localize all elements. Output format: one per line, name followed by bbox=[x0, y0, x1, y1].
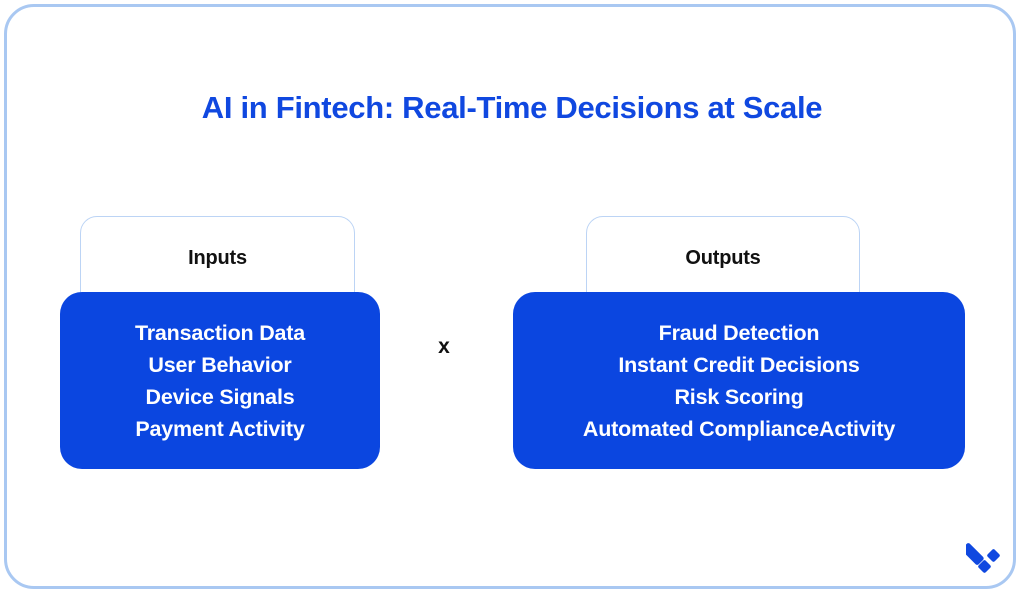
inputs-group: Inputs Transaction Data User Behavior De… bbox=[60, 216, 380, 469]
slide-canvas: AI in Fintech: Real-Time Decisions at Sc… bbox=[0, 0, 1024, 597]
page-title: AI in Fintech: Real-Time Decisions at Sc… bbox=[0, 88, 1024, 128]
multiplier-symbol: x bbox=[404, 333, 484, 361]
brand-logo-icon bbox=[966, 536, 1006, 576]
list-item: User Behavior bbox=[148, 349, 291, 381]
list-item: Fraud Detection bbox=[659, 317, 820, 349]
list-item: Instant Credit Decisions bbox=[618, 349, 859, 381]
outputs-header-label: Outputs bbox=[587, 247, 859, 270]
outputs-group: Outputs Fraud Detection Instant Credit D… bbox=[513, 216, 965, 469]
outputs-body-card: Fraud Detection Instant Credit Decisions… bbox=[513, 292, 965, 469]
inputs-header-label: Inputs bbox=[81, 247, 354, 270]
list-item: Device Signals bbox=[146, 381, 295, 413]
list-item: Transaction Data bbox=[135, 317, 305, 349]
list-item: Risk Scoring bbox=[674, 381, 803, 413]
inputs-body-card: Transaction Data User Behavior Device Si… bbox=[60, 292, 380, 469]
brand-logo bbox=[966, 536, 1006, 576]
list-item: Payment Activity bbox=[135, 413, 304, 445]
list-item: Automated ComplianceActivity bbox=[583, 413, 895, 445]
